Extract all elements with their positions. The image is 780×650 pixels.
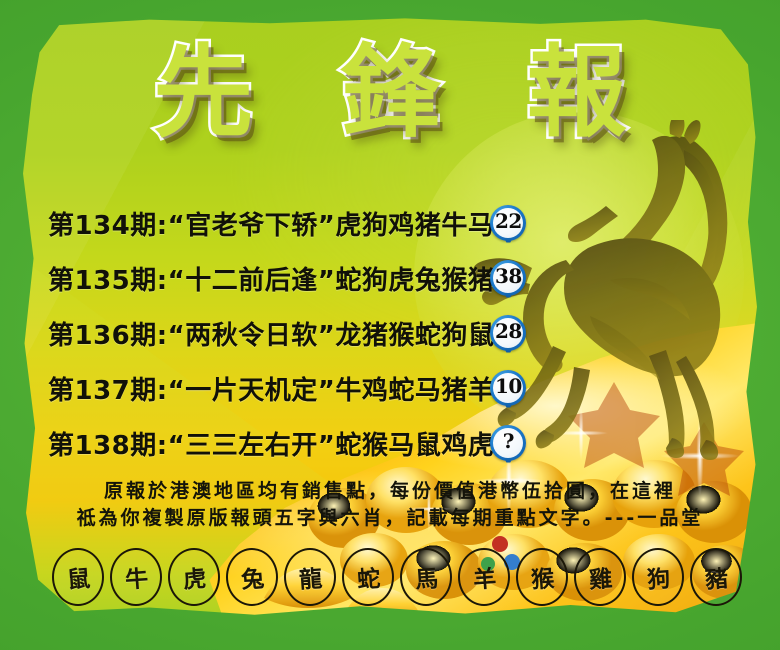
issue-row: 第138期:“三三左右开”蛇猴马鼠鸡虎 ? <box>48 416 748 471</box>
footer-line-2: 祗為你複製原版報頭五字與六肖，記載每期重點文字。---一品堂 <box>0 505 780 532</box>
zodiac-item-horse: 馬 <box>400 548 452 606</box>
zodiac-item-dog: 狗 <box>632 548 684 606</box>
zodiac-label: 虎 <box>181 559 206 595</box>
badge-number: 10 <box>490 370 526 403</box>
zodiac-item-ox: 牛 <box>110 548 162 606</box>
badge-number: 28 <box>490 315 526 348</box>
issue-number-badge: 28 <box>490 315 526 353</box>
zodiac-label: 猴 <box>529 559 554 595</box>
zodiac-item-tiger: 虎 <box>168 548 220 606</box>
poster-root: 先 鋒 報 第134期:“官老爷下轿”虎狗鸡猪牛马 22 第135期:“十二前后… <box>0 0 780 650</box>
issue-row-text: 第136期:“两秋令日软”龙猪猴蛇狗鼠 <box>48 315 494 352</box>
zodiac-item-rooster: 雞 <box>574 548 626 606</box>
badge-number: 38 <box>490 260 526 293</box>
zodiac-label: 豬 <box>703 559 728 595</box>
zodiac-item-goat: 羊 <box>458 548 510 606</box>
zodiac-item-rat: 鼠 <box>52 548 104 606</box>
issue-list: 第134期:“官老爷下轿”虎狗鸡猪牛马 22 第135期:“十二前后逢”蛇狗虎兔… <box>48 196 748 471</box>
issue-number-badge: ? <box>490 425 526 463</box>
issue-row-text: 第138期:“三三左右开”蛇猴马鼠鸡虎 <box>48 425 494 462</box>
poster-title-wrap: 先 鋒 報 <box>0 40 780 145</box>
zodiac-label: 兔 <box>239 559 264 595</box>
issue-row-text: 第134期:“官老爷下轿”虎狗鸡猪牛马 <box>48 205 494 242</box>
badge-number: 22 <box>490 205 526 238</box>
zodiac-label: 馬 <box>413 559 438 595</box>
zodiac-item-snake: 蛇 <box>342 548 394 606</box>
zodiac-label: 雞 <box>587 559 612 595</box>
zodiac-label: 蛇 <box>355 559 380 595</box>
issue-row: 第135期:“十二前后逢”蛇狗虎兔猴猪 38 <box>48 251 748 306</box>
issue-row: 第134期:“官老爷下轿”虎狗鸡猪牛马 22 <box>48 196 748 251</box>
zodiac-item-rabbit: 兔 <box>226 548 278 606</box>
zodiac-label: 狗 <box>645 559 670 595</box>
zodiac-item-pig: 豬 <box>690 548 742 606</box>
issue-number-badge: 10 <box>490 370 526 408</box>
zodiac-strip: 鼠 牛 虎 兔 龍 蛇 馬 羊 猴 雞 狗 豬 <box>52 548 742 606</box>
poster-title: 先 鋒 報 <box>127 40 653 145</box>
issue-number-badge: 22 <box>490 205 526 243</box>
zodiac-item-monkey: 猴 <box>516 548 568 606</box>
zodiac-label: 鼠 <box>65 559 90 595</box>
zodiac-label: 羊 <box>471 559 496 595</box>
issue-row: 第136期:“两秋令日软”龙猪猴蛇狗鼠 28 <box>48 306 748 361</box>
issue-row-text: 第135期:“十二前后逢”蛇狗虎兔猴猪 <box>48 260 494 297</box>
issue-number-badge: 38 <box>490 260 526 298</box>
badge-number: ? <box>490 425 526 458</box>
zodiac-item-dragon: 龍 <box>284 548 336 606</box>
issue-row-text: 第137期:“一片天机定”牛鸡蛇马猪羊 <box>48 370 494 407</box>
footer-line-1: 原報於港澳地區均有銷售點，每份價值港幣伍拾圓，在這裡 <box>0 478 780 505</box>
zodiac-label: 龍 <box>297 559 322 595</box>
footer-note: 原報於港澳地區均有銷售點，每份價值港幣伍拾圓，在這裡 祗為你複製原版報頭五字與六… <box>0 478 780 532</box>
zodiac-label: 牛 <box>123 559 148 595</box>
issue-row: 第137期:“一片天机定”牛鸡蛇马猪羊 10 <box>48 361 748 416</box>
